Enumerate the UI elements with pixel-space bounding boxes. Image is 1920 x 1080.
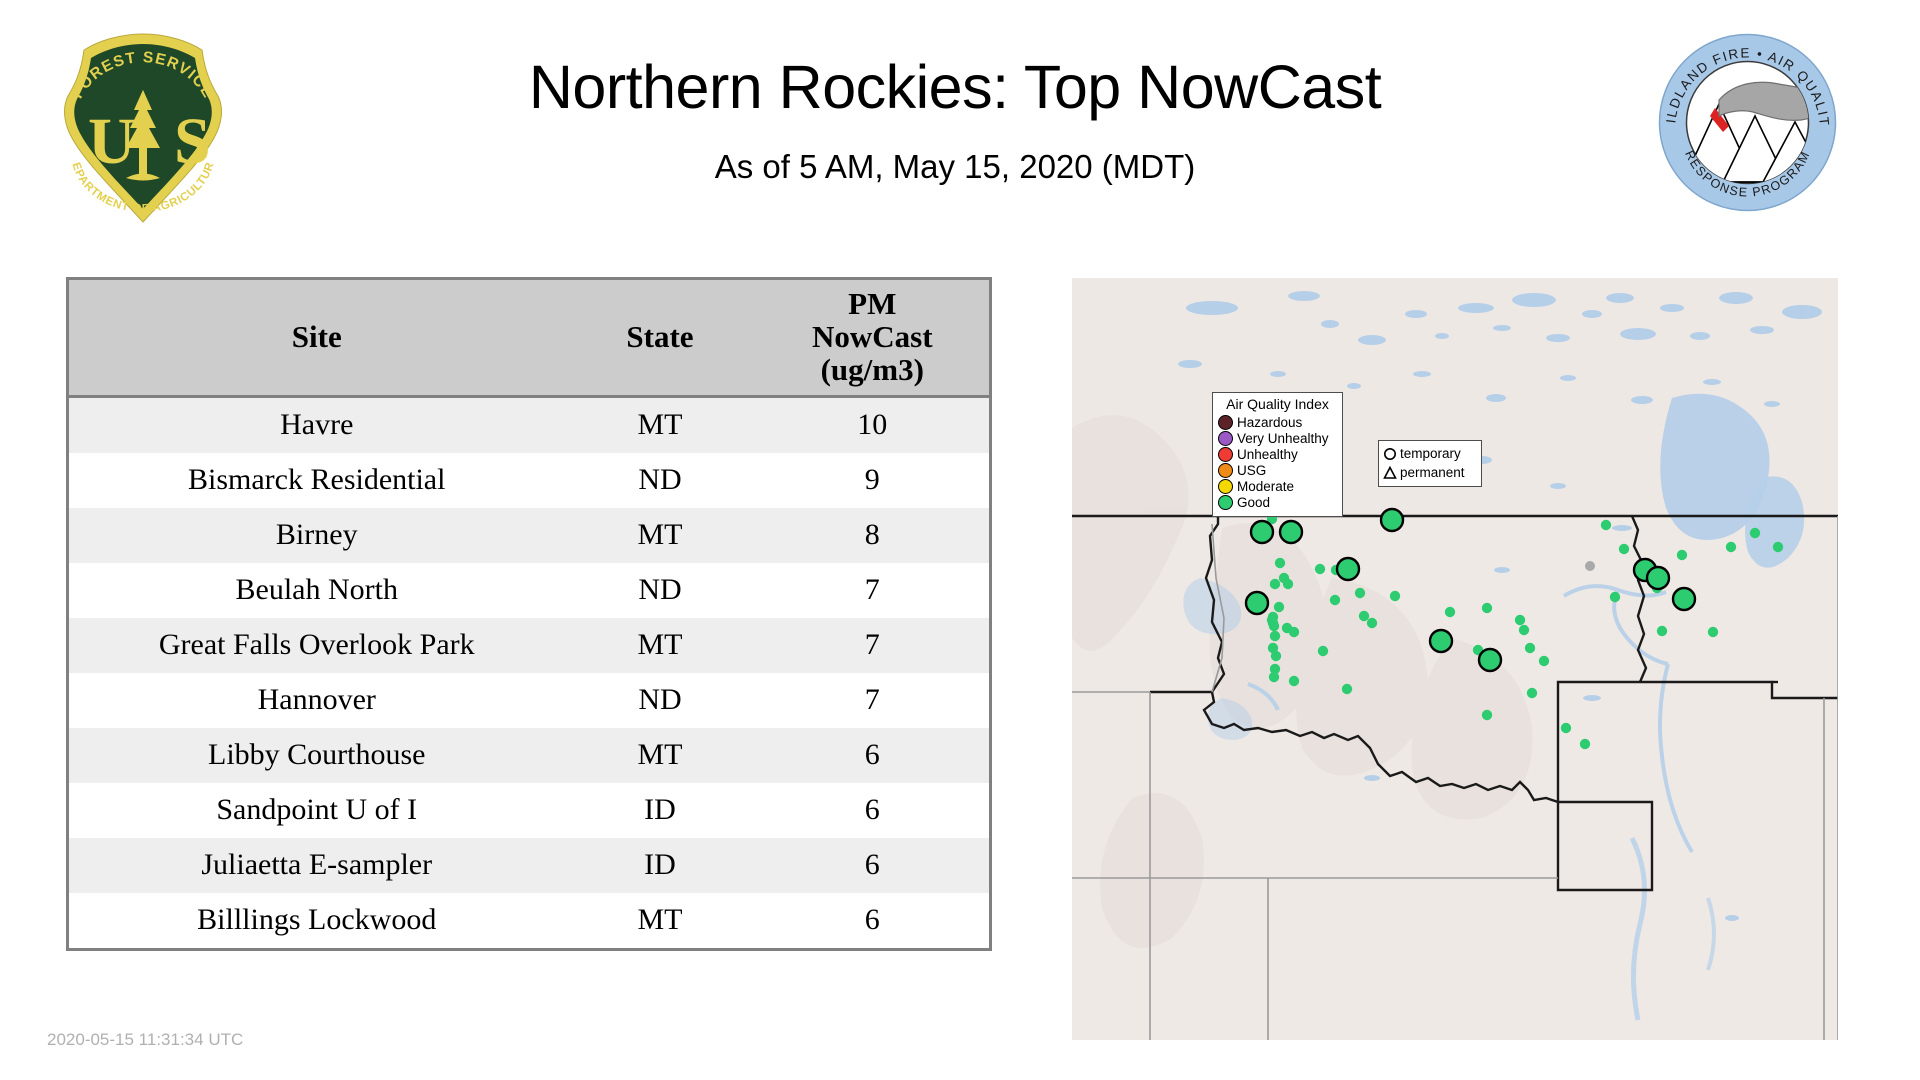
monitor-marker-large[interactable] [1280,521,1302,543]
monitor-marker-small[interactable] [1355,588,1365,598]
page-subtitle: As of 5 AM, May 15, 2020 (MDT) [260,148,1650,186]
monitor-marker-small[interactable] [1271,651,1281,661]
monitor-marker-small[interactable] [1289,676,1299,686]
aqi-legend-label: Hazardous [1237,416,1302,430]
aqi-legend-label: Good [1237,496,1270,510]
monitor-marker-large[interactable] [1673,588,1695,610]
site-cell: Libby Courthouse [68,728,565,783]
aqi-legend-item: Very Unhealthy [1218,431,1337,446]
monitor-marker-small[interactable] [1482,710,1492,720]
monitor-marker-small[interactable] [1539,656,1549,666]
site-cell: Beulah North [68,563,565,618]
table-row: HannoverND7 [68,673,991,728]
monitor-marker-small[interactable] [1267,615,1277,625]
pm-nowcast-cell: 6 [756,838,991,893]
monitor-marker-small[interactable] [1283,579,1293,589]
aqi-legend-item: Good [1218,495,1337,510]
page-header: FOREST SERVICE DEPARTMENT OF AGRICULTURE… [0,0,1920,225]
us-forest-service-logo: FOREST SERVICE DEPARTMENT OF AGRICULTURE… [48,28,238,228]
monitor-marker-small[interactable] [1726,542,1736,552]
aqi-swatch-icon [1218,415,1233,430]
state-cell: MT [565,396,756,453]
column-header-state-label: State [626,319,693,354]
monitor-marker-small[interactable] [1289,627,1299,637]
state-cell: MT [565,618,756,673]
column-header-site-label: Site [292,319,342,354]
fs-letter-s: S [174,105,211,178]
triangle-outline-icon [1383,465,1397,481]
monitor-marker-small[interactable] [1342,684,1352,694]
state-cell: ND [565,673,756,728]
air-quality-map[interactable] [1072,278,1838,1040]
table-row: Beulah NorthND7 [68,563,991,618]
monitor-marker-small[interactable] [1445,607,1455,617]
monitor-marker-small[interactable] [1657,626,1667,636]
monitor-marker-large[interactable] [1647,567,1669,589]
monitor-marker-small[interactable] [1525,643,1535,653]
site-cell: Juliaetta E-sampler [68,838,565,893]
circle-outline-icon [1383,446,1397,462]
wildland-fire-air-quality-logo: WILDLAND FIRE • AIR QUALITY RESPONSE PRO… [1655,30,1840,215]
state-cell: MT [565,508,756,563]
table-row: Bismarck ResidentialND9 [68,453,991,508]
monitor-type-legend: temporary permanent [1378,440,1482,487]
state-cell: MT [565,893,756,950]
monitor-marker-small[interactable] [1274,602,1284,612]
site-cell: Hannover [68,673,565,728]
aqi-legend: Air Quality Index HazardousVery Unhealth… [1212,392,1343,517]
column-header-pm-line3: (ug/m3) [760,354,986,387]
monitor-marker-small[interactable] [1708,627,1718,637]
pm-nowcast-cell: 7 [756,563,991,618]
monitor-legend-row-temporary: temporary [1383,444,1477,463]
monitor-marker-small[interactable] [1750,528,1760,538]
monitor-marker-small[interactable] [1482,603,1492,613]
table-row: Billlings LockwoodMT6 [68,893,991,950]
monitor-marker-small[interactable] [1330,595,1340,605]
monitor-marker-large[interactable] [1479,649,1501,671]
monitor-marker-inactive[interactable] [1585,561,1595,571]
table-row: Libby CourthouseMT6 [68,728,991,783]
footer-timestamp: 2020-05-15 11:31:34 UTC [47,1030,243,1050]
column-header-pm-line2: NowCast [760,321,986,354]
monitor-marker-small[interactable] [1619,544,1629,554]
monitor-marker-small[interactable] [1561,723,1571,733]
aqi-legend-label: Unhealthy [1237,448,1298,462]
pm-nowcast-cell: 6 [756,728,991,783]
monitor-marker-small[interactable] [1773,542,1783,552]
monitor-marker-large[interactable] [1381,509,1403,531]
monitor-marker-small[interactable] [1601,520,1611,530]
state-cell: ND [565,453,756,508]
table-row: Sandpoint U of IID6 [68,783,991,838]
aqi-legend-item: Moderate [1218,479,1337,494]
aqi-swatch-icon [1218,495,1233,510]
table-header: Site State PM NowCast (ug/m3) [68,279,991,397]
state-cell: MT [565,728,756,783]
monitor-marker-small[interactable] [1318,646,1328,656]
monitor-legend-label-temporary: temporary [1400,447,1461,461]
table-row: Juliaetta E-samplerID6 [68,838,991,893]
monitor-marker-small[interactable] [1275,558,1285,568]
monitor-marker-small[interactable] [1527,688,1537,698]
nowcast-table: Site State PM NowCast (ug/m3) HavreMT10B… [66,277,992,951]
monitor-marker-small[interactable] [1519,625,1529,635]
column-header-pm-line1: PM [760,288,986,321]
monitor-legend-row-permanent: permanent [1383,463,1477,482]
aqi-legend-item: Hazardous [1218,415,1337,430]
monitor-marker-small[interactable] [1367,618,1377,628]
site-cell: Sandpoint U of I [68,783,565,838]
monitor-marker-small[interactable] [1390,591,1400,601]
pm-nowcast-cell: 6 [756,783,991,838]
monitor-marker-small[interactable] [1677,550,1687,560]
nowcast-table-container: Site State PM NowCast (ug/m3) HavreMT10B… [66,277,989,951]
monitor-marker-small[interactable] [1315,564,1325,574]
monitor-marker-small[interactable] [1270,631,1280,641]
monitor-marker-small[interactable] [1359,611,1369,621]
pm-nowcast-cell: 10 [756,396,991,453]
state-cell: ID [565,783,756,838]
pm-nowcast-cell: 7 [756,673,991,728]
page-title: Northern Rockies: Top NowCast [260,52,1650,122]
monitor-legend-label-permanent: permanent [1400,466,1465,480]
column-header-site: Site [68,279,565,397]
monitor-marker-large[interactable] [1251,521,1273,543]
table-row: BirneyMT8 [68,508,991,563]
monitor-marker-large[interactable] [1337,558,1359,580]
column-header-pm-nowcast: PM NowCast (ug/m3) [756,279,991,397]
pm-nowcast-cell: 6 [756,893,991,950]
monitor-marker-small[interactable] [1580,739,1590,749]
pm-nowcast-cell: 9 [756,453,991,508]
site-cell: Birney [68,508,565,563]
monitor-marker-small[interactable] [1610,592,1620,602]
fs-letter-u: U [88,105,136,178]
monitor-marker-large[interactable] [1246,592,1268,614]
site-cell: Billlings Lockwood [68,893,565,950]
aqi-swatch-icon [1218,431,1233,446]
aqi-swatch-icon [1218,463,1233,478]
aqi-swatch-icon [1218,479,1233,494]
aqi-legend-item: Unhealthy [1218,447,1337,462]
pm-nowcast-cell: 8 [756,508,991,563]
table-row: Great Falls Overlook ParkMT7 [68,618,991,673]
site-cell: Bismarck Residential [68,453,565,508]
aqi-legend-label: USG [1237,464,1266,478]
aqi-legend-label: Moderate [1237,480,1294,494]
pm-nowcast-cell: 7 [756,618,991,673]
aqi-legend-item: USG [1218,463,1337,478]
monitor-marker-small[interactable] [1270,579,1280,589]
state-cell: ID [565,838,756,893]
monitor-marker-small[interactable] [1515,615,1525,625]
table-row: HavreMT10 [68,396,991,453]
column-header-state: State [565,279,756,397]
site-cell: Great Falls Overlook Park [68,618,565,673]
aqi-legend-title: Air Quality Index [1218,397,1337,412]
aqi-swatch-icon [1218,447,1233,462]
aqi-legend-label: Very Unhealthy [1237,432,1329,446]
table-body: HavreMT10Bismarck ResidentialND9BirneyMT… [68,396,991,949]
monitor-marker-small[interactable] [1269,672,1279,682]
monitor-marker-large[interactable] [1430,630,1452,652]
table-header-row: Site State PM NowCast (ug/m3) [68,279,991,397]
site-cell: Havre [68,396,565,453]
state-cell: ND [565,563,756,618]
